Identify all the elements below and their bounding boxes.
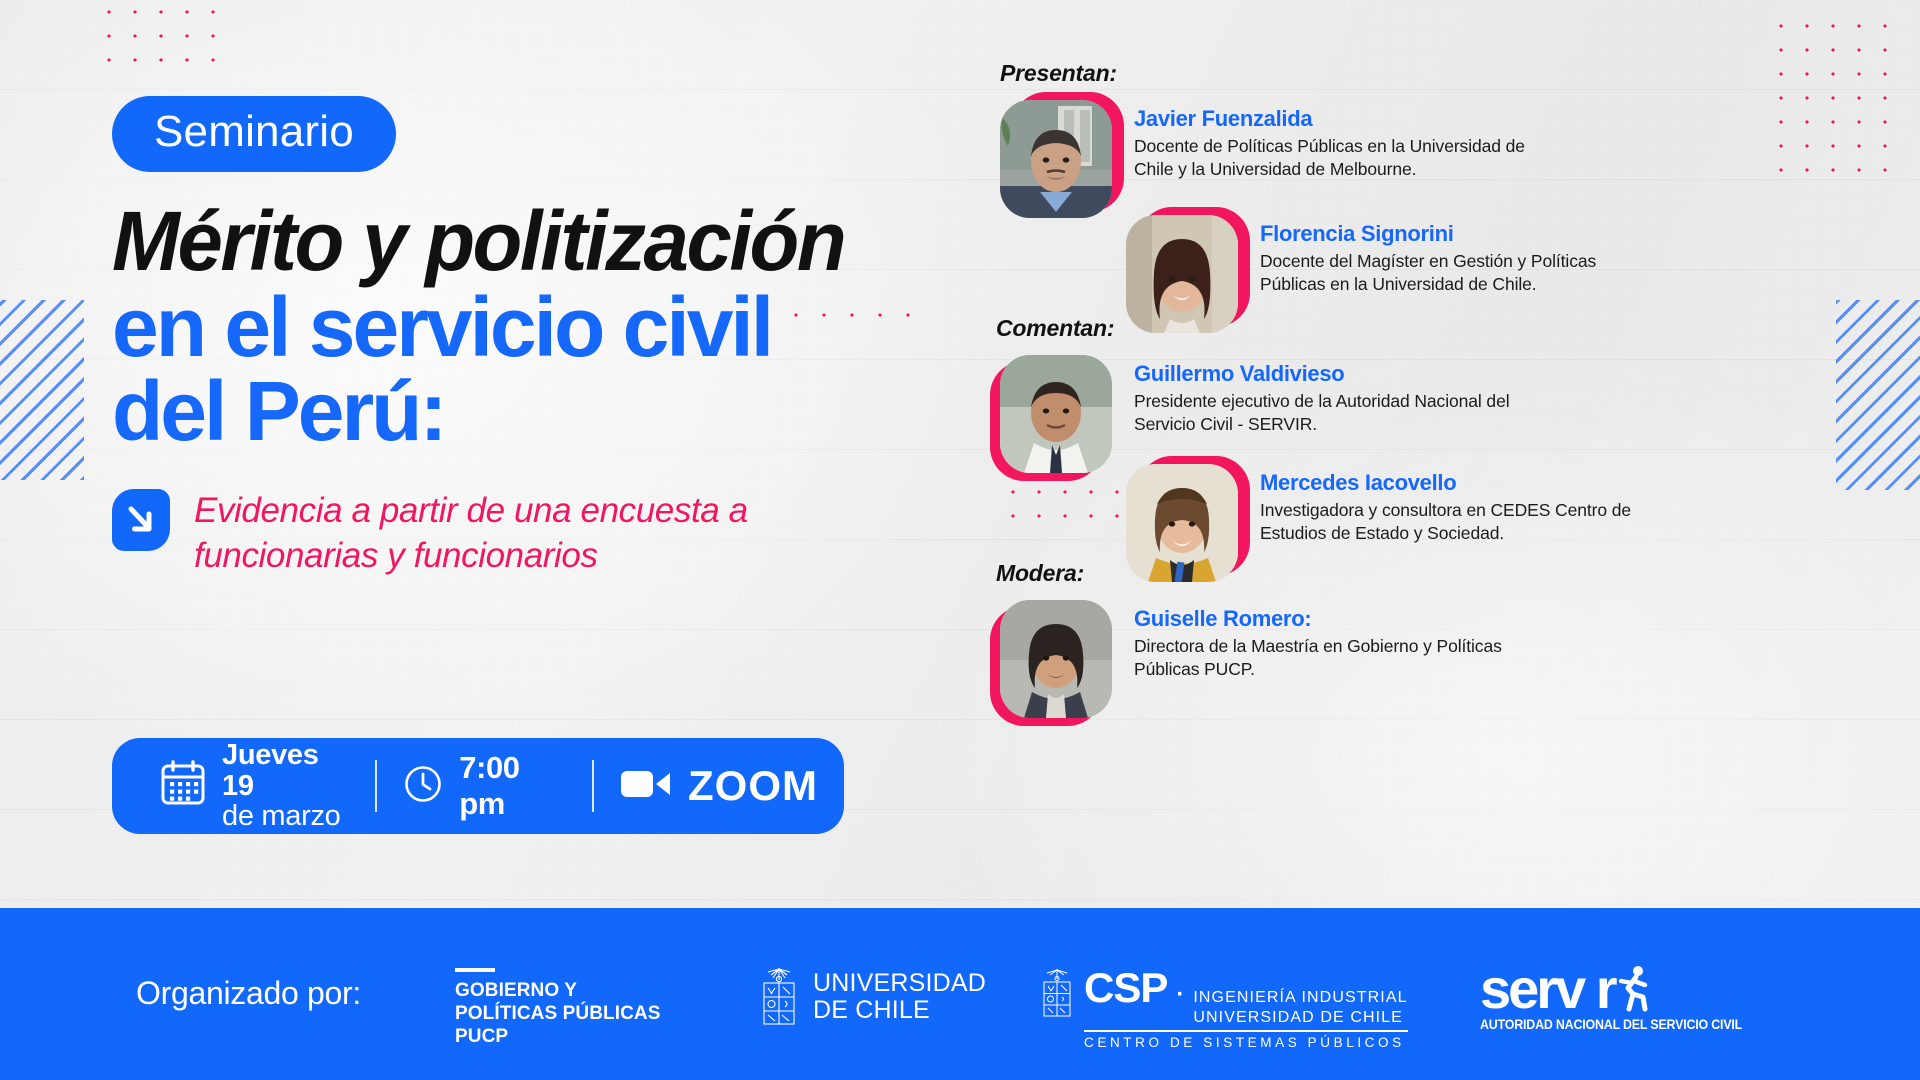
avatar [1000,100,1118,218]
headline-column: Seminario Mérito y politización en el se… [112,96,912,579]
speaker-bio: Docente de Políticas Públicas en la Univ… [1134,135,1534,182]
speaker-bio: Presidente ejecutivo de la Autoridad Nac… [1134,390,1534,437]
logo-csp-footer: CENTRO DE SISTEMAS PÚBLICOS [1084,1035,1408,1050]
uchile-crest-icon [758,966,800,1028]
uchile-crest-icon [1040,968,1074,1018]
logo-csp: CSP · INGENIERÍA INDUSTRIAL UNIVERSIDAD … [1040,964,1408,1050]
portrait-guiselle-romero [1000,600,1112,718]
logo-servir: serv r AUTORIDAD NACIONAL DEL SERVICIO C… [1480,962,1765,1032]
logo-csp-main: CSP · INGENIERÍA INDUSTRIAL UNIVERSIDAD … [1084,964,1408,1027]
speaker-bio: Docente del Magíster en Gestión y Políti… [1260,250,1660,297]
speaker-card: Mercedes Iacovello Investigadora y consu… [1126,464,1660,582]
avatar [1000,600,1118,718]
event-time: 7:00 pm [377,750,592,822]
section-label-modera: Modera: [996,560,1084,587]
logo-csp-separator: · [1176,981,1184,1009]
speaker-card: Guillermo Valdivieso Presidente ejecutiv… [1000,355,1534,473]
logo-pucp: GOBIERNO Y POLÍTICAS PÚBLICAS PUCP [455,968,661,1049]
speaker-name: Florencia Signorini [1260,221,1660,247]
section-label-presentan: Presentan: [1000,60,1117,87]
logo-uchile-text: UNIVERSIDAD DE CHILE [813,970,986,1025]
logo-csp-acronym: CSP [1084,964,1167,1012]
event-info-bar: Jueves 19 de marzo 7:00 pm ZOOM [112,738,844,834]
footer-bar: Organizado por: GOBIERNO Y POLÍTICAS PÚB… [0,908,1920,1080]
event-time-text: 7:00 pm [459,750,566,822]
speaker-card: Javier Fuenzalida Docente de Políticas P… [1000,100,1534,218]
event-platform: ZOOM [594,762,844,810]
logo-pucp-line2: POLÍTICAS PÚBLICAS [455,1002,661,1025]
speaker-name: Javier Fuenzalida [1134,106,1534,132]
section-label-comentan: Comentan: [996,315,1114,342]
arrow-down-right-icon [112,489,170,551]
logo-uchile-line1: UNIVERSIDAD [813,970,986,998]
avatar [1000,355,1118,473]
portrait-guillermo-valdivieso [1000,355,1112,473]
speaker-bio: Investigadora y consultora en CEDES Cent… [1260,499,1660,546]
zoom-wordmark: ZOOM [688,762,818,810]
logo-uchile-line2: DE CHILE [813,997,986,1025]
logo-pucp-line1: GOBIERNO Y [455,979,661,1002]
logo-rule [1084,1030,1408,1032]
subtitle-row: Evidencia a partir de una encuesta a fun… [112,489,912,579]
logo-csp-sub2: UNIVERSIDAD DE CHILE [1193,1008,1407,1028]
logo-csp-text: CSP · INGENIERÍA INDUSTRIAL UNIVERSIDAD … [1084,964,1408,1050]
logo-servir-wordmark: serv r [1480,962,1765,1015]
calendar-icon [160,759,206,812]
speaker-name: Guillermo Valdivieso [1134,361,1534,387]
avatar [1126,215,1244,333]
speaker-bio: Directora de la Maestría en Gobierno y P… [1134,635,1534,682]
event-date-day: Jueves 19 [222,739,319,802]
portrait-mercedes-iacovello [1126,464,1238,582]
speaker-name: Mercedes Iacovello [1260,470,1660,496]
logo-universidad-de-chile: UNIVERSIDAD DE CHILE [758,966,986,1028]
subtitle-text: Evidencia a partir de una encuesta a fun… [194,489,834,579]
speakers-panel: Presentan: Comentan: Modera: [986,48,1886,738]
speaker-name: Guiselle Romero: [1134,606,1534,632]
running-person-icon [1614,964,1654,1012]
title-line-2: en el servicio civil [112,288,912,368]
event-date-text: Jueves 19 de marzo [222,740,349,832]
logo-pucp-line3: PUCP [455,1025,661,1048]
logo-csp-sub1: INGENIERÍA INDUSTRIAL [1193,988,1407,1008]
logo-pucp-text: GOBIERNO Y POLÍTICAS PÚBLICAS PUCP [455,979,661,1049]
organized-by-label: Organizado por: [136,975,361,1012]
speaker-info: Guiselle Romero: Directora de la Maestrí… [1134,600,1534,682]
logo-servir-text: serv r [1480,957,1615,1020]
title-line-1: Mérito y politización [112,202,888,282]
decorative-dot-grid-top-left [96,0,216,80]
logo-csp-subtitle: INGENIERÍA INDUSTRIAL UNIVERSIDAD DE CHI… [1193,988,1407,1027]
logo-servir-tagline: AUTORIDAD NACIONAL DEL SERVICIO CIVIL [1480,1017,1742,1032]
speaker-card: Guiselle Romero: Directora de la Maestrí… [1000,600,1534,718]
speaker-info: Florencia Signorini Docente del Magíster… [1260,215,1660,297]
speaker-info: Javier Fuenzalida Docente de Políticas P… [1134,100,1534,182]
video-camera-icon [620,767,672,806]
avatar [1126,464,1244,582]
page-title: Mérito y politización en el servicio civ… [112,202,912,451]
seminario-badge: Seminario [112,96,396,172]
logo-rule [455,968,495,972]
portrait-javier-fuenzalida [1000,100,1112,218]
seminar-poster: Seminario Mérito y politización en el se… [0,0,1920,1080]
event-date: Jueves 19 de marzo [112,740,375,832]
speaker-card: Florencia Signorini Docente del Magíster… [1126,215,1660,333]
clock-icon [403,764,443,809]
event-date-month: de marzo [222,801,349,832]
speaker-info: Guillermo Valdivieso Presidente ejecutiv… [1134,355,1534,437]
decorative-diagonal-stripes-left [0,300,84,480]
portrait-florencia-signorini [1126,215,1238,333]
speaker-info: Mercedes Iacovello Investigadora y consu… [1260,464,1660,546]
title-line-3: del Perú: [112,372,912,452]
